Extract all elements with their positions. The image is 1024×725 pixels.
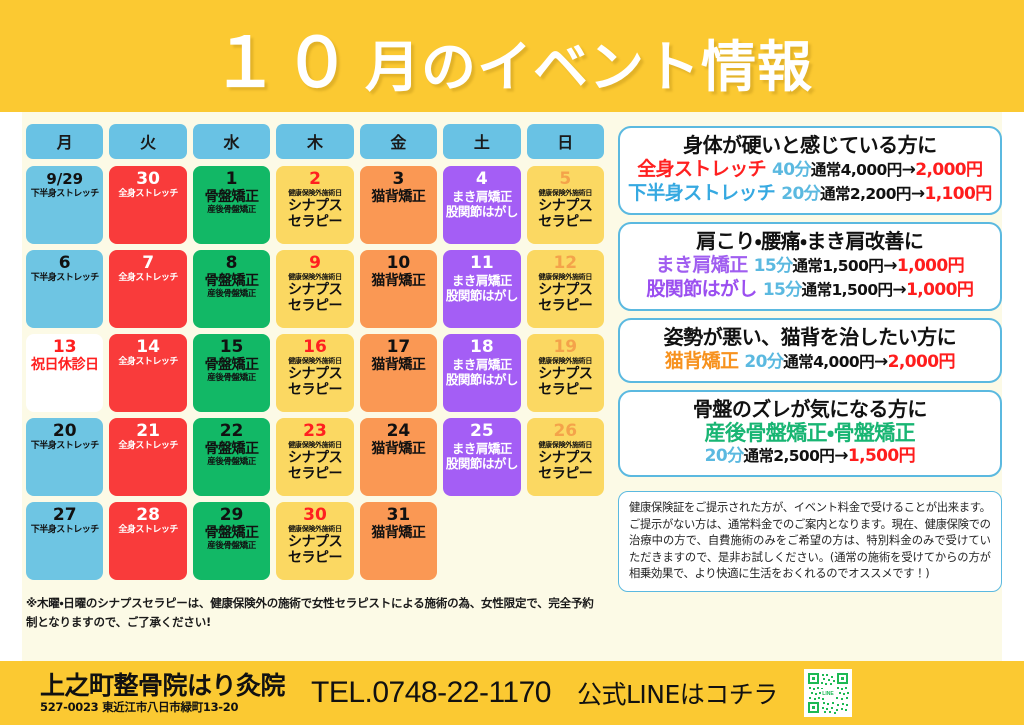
page-title: １０月のイベント情報 [211, 7, 813, 106]
treatment-label: 下半身ストレッチ [31, 273, 99, 284]
calendar-weekday-6: 日 [527, 124, 604, 159]
promo-arrow-icon: → [834, 446, 848, 466]
qr-icon: LINE [806, 671, 850, 715]
calendar-day-number: 27 [53, 505, 77, 525]
calendar-day-cell[interactable]: 9健康保険外施術日シナプスセラピー [276, 250, 353, 328]
calendar-day-cell[interactable]: 11まき肩矯正股関節はがし [443, 250, 520, 328]
promo-arrow-icon: → [874, 352, 888, 372]
calendar-day-cell[interactable]: 24猫背矯正 [360, 418, 437, 496]
promo-heading: 肩こり・腰痛・まき肩改善に [628, 229, 992, 254]
treatment-label-2: セラピー [288, 382, 342, 398]
line-qr-code[interactable]: LINE [804, 669, 852, 717]
promo-sale-price: 2,000円 [915, 160, 982, 180]
calendar-day-number: 16 [303, 337, 327, 357]
promo-price-line: まき肩矯正 15分通常1,500円→1,000円 [628, 254, 992, 278]
promo-sale-price: 1,000円 [906, 280, 973, 300]
calendar-day-number: 21 [136, 421, 160, 441]
calendar-footnote: ※木曜・日曜のシナプスセラピーは、健康保険外の施術で女性セラピストによる施術の為… [26, 594, 604, 632]
insurance-note: 健康保険外施術日 [288, 189, 342, 198]
insurance-note: 健康保険外施術日 [288, 273, 342, 282]
calendar-day-number: 9 [309, 253, 321, 273]
calendar-day-cell[interactable]: 16健康保険外施術日シナプスセラピー [276, 334, 353, 412]
treatment-label: まき肩矯正 [452, 189, 512, 204]
promo-heading: 身体が硬いと感じている方に [628, 133, 992, 158]
poster-body: 月火水木金土日 9/29下半身ストレッチ30全身ストレッチ1骨盤矯正産後骨盤矯正… [0, 112, 1024, 661]
calendar-day-cell[interactable]: 29骨盤矯正産後骨盤矯正 [193, 502, 270, 580]
insurance-note: 健康保険外施術日 [538, 189, 592, 198]
calendar-day-cell[interactable]: 30健康保険外施術日シナプスセラピー [276, 502, 353, 580]
treatment-label-2: セラピー [538, 298, 592, 314]
promo-duration: 15分 [754, 256, 793, 276]
promo-treatment-name: 全身ストレッチ [637, 158, 772, 180]
calendar-day-cell[interactable]: 8骨盤矯正産後骨盤矯正 [193, 250, 270, 328]
treatment-label: 下半身ストレッチ [31, 441, 99, 452]
calendar-day-cell[interactable]: 28全身ストレッチ [109, 502, 186, 580]
promo-regular-price: 通常2,500円 [743, 447, 834, 465]
treatment-label-2: 股関節はがし [446, 372, 518, 387]
header-month: １０ [211, 24, 355, 103]
calendar-day-number: 9/29 [46, 169, 83, 189]
calendar-weekday-2: 水 [193, 124, 270, 159]
promo-sale-price: 1,500円 [848, 446, 915, 466]
promo-arrow-icon: → [911, 184, 925, 204]
disclaimer-note: 健康保険証をご提示された方が、イベント料金で受けることが出来ます。ご提示がない方… [618, 491, 1002, 592]
promo-treatment-name: 猫背矯正 [665, 350, 745, 372]
treatment-label: シナプス [288, 366, 342, 382]
insurance-note: 健康保険外施術日 [288, 441, 342, 450]
treatment-label: 猫背矯正 [371, 357, 425, 373]
svg-text:LINE: LINE [822, 691, 834, 697]
promo-price-line: 20分通常2,500円→1,500円 [628, 445, 992, 468]
calendar-cell-empty [443, 502, 520, 580]
calendar-day-number: 1 [226, 169, 238, 189]
poster-header: １０月のイベント情報 [0, 0, 1024, 112]
treatment-label-2: 股関節はがし [446, 456, 518, 471]
treatment-label-2: セラピー [288, 550, 342, 566]
treatment-label: 猫背矯正 [371, 189, 425, 205]
calendar-weekday-0: 月 [26, 124, 103, 159]
insurance-note: 健康保険外施術日 [288, 357, 342, 366]
promo-treatment-name: 下半身ストレッチ [628, 182, 781, 204]
promo-regular-price: 通常4,000円 [811, 161, 902, 179]
calendar-day-cell[interactable]: 14全身ストレッチ [109, 334, 186, 412]
phone-number[interactable]: TEL.0748-22-1170 [311, 676, 551, 710]
calendar-day-number: 28 [136, 505, 160, 525]
promo-duration: 20分 [744, 352, 783, 372]
treatment-label: シナプス [288, 534, 342, 550]
treatment-label: シナプス [288, 450, 342, 466]
poster-footer: 上之町整骨院はり灸院 527-0023 東近江市八日市緑町13-20 TEL.0… [0, 661, 1024, 725]
promo-duration: 20分 [705, 446, 744, 466]
calendar-day-cell[interactable]: 12健康保険外施術日シナプスセラピー [527, 250, 604, 328]
treatment-sublabel: 産後骨盤矯正 [207, 457, 256, 468]
calendar-day-number: 11 [470, 253, 494, 273]
calendar-day-number: 12 [553, 253, 577, 273]
promo-regular-price: 通常4,000円 [783, 353, 874, 371]
promo-duration: 20分 [781, 184, 820, 204]
calendar-day-number: 19 [553, 337, 577, 357]
treatment-label: 全身ストレッチ [118, 525, 178, 536]
treatment-label: 骨盤矯正 [205, 525, 259, 541]
promo-subheading: 産後骨盤矯正・骨盤矯正 [628, 422, 992, 445]
calendar-day-number: 4 [476, 169, 488, 189]
calendar-day-number: 10 [387, 253, 411, 273]
calendar-day-cell[interactable]: 7全身ストレッチ [109, 250, 186, 328]
poster-root: １０月のイベント情報 月火水木金土日 9/29下半身ストレッチ30全身ストレッチ… [0, 0, 1024, 725]
promo-list: 身体が硬いと感じている方に全身ストレッチ 40分通常4,000円→2,000円下… [618, 126, 1002, 484]
calendar-day-cell[interactable]: 2健康保険外施術日シナプスセラピー [276, 166, 353, 244]
treatment-label-2: セラピー [538, 466, 592, 482]
treatment-label: 下半身ストレッチ [31, 189, 99, 200]
calendar-day-cell[interactable]: 1骨盤矯正産後骨盤矯正 [193, 166, 270, 244]
treatment-label: シナプス [538, 282, 592, 298]
treatment-label: シナプス [288, 282, 342, 298]
promo-arrow-icon: → [883, 256, 897, 276]
clinic-address: 527-0023 東近江市八日市緑町13-20 [40, 700, 285, 715]
calendar-day-cell[interactable]: 30全身ストレッチ [109, 166, 186, 244]
holiday-label: 祝日休診日 [31, 357, 99, 373]
clinic-info: 上之町整骨院はり灸院 527-0023 東近江市八日市緑町13-20 [40, 671, 285, 715]
calendar-day-cell[interactable]: 31猫背矯正 [360, 502, 437, 580]
calendar-day-cell[interactable]: 26健康保険外施術日シナプスセラピー [527, 418, 604, 496]
promo-sale-price: 1,100円 [924, 184, 991, 204]
treatment-label: シナプス [538, 450, 592, 466]
treatment-label-2: 股関節はがし [446, 204, 518, 219]
calendar-day-cell[interactable]: 23健康保険外施術日シナプスセラピー [276, 418, 353, 496]
left-margin [0, 112, 22, 661]
promo-regular-price: 通常1,500円 [792, 257, 883, 275]
treatment-label: まき肩矯正 [452, 357, 512, 372]
calendar-day-number: 7 [142, 253, 154, 273]
treatment-label: まき肩矯正 [452, 273, 512, 288]
calendar-day-number: 29 [220, 505, 244, 525]
calendar-day-number: 17 [387, 337, 411, 357]
calendar-day-number: 5 [559, 169, 571, 189]
treatment-label: 骨盤矯正 [205, 357, 259, 373]
header-title-rest: 月のイベント情報 [365, 35, 813, 99]
promo-price-line: 股関節はがし 15分通常1,500円→1,000円 [628, 278, 992, 302]
calendar-day-number: 25 [470, 421, 494, 441]
clinic-name: 上之町整骨院はり灸院 [40, 671, 285, 700]
calendar-day-cell[interactable]: 19健康保険外施術日シナプスセラピー [527, 334, 604, 412]
treatment-label: 全身ストレッチ [118, 441, 178, 452]
promo-regular-price: 通常1,500円 [802, 281, 893, 299]
calendar-day-cell[interactable]: 3猫背矯正 [360, 166, 437, 244]
calendar-day-cell[interactable]: 25まき肩矯正股関節はがし [443, 418, 520, 496]
calendar-weekday-5: 土 [443, 124, 520, 159]
promo-treatment-name: まき肩矯正 [656, 254, 754, 276]
promo-duration: 40分 [772, 160, 811, 180]
calendar-day-number: 30 [303, 505, 327, 525]
promo-column: 身体が硬いと感じている方に全身ストレッチ 40分通常4,000円→2,000円下… [618, 124, 1002, 661]
promo-arrow-icon: → [892, 280, 906, 300]
promo-treatment-name: 股関節はがし [646, 278, 762, 300]
treatment-label: シナプス [538, 198, 592, 214]
promo-box: 肩こり・腰痛・まき肩改善にまき肩矯正 15分通常1,500円→1,000円股関節… [618, 222, 1002, 311]
treatment-sublabel: 産後骨盤矯正 [207, 205, 256, 216]
calendar-day-number: 15 [220, 337, 244, 357]
calendar-day-number: 2 [309, 169, 321, 189]
calendar-day-number: 22 [220, 421, 244, 441]
treatment-label: 骨盤矯正 [205, 189, 259, 205]
calendar-day-cell[interactable]: 20下半身ストレッチ [26, 418, 103, 496]
treatment-label-2: セラピー [538, 214, 592, 230]
treatment-label: 下半身ストレッチ [31, 525, 99, 536]
calendar-day-number: 23 [303, 421, 327, 441]
treatment-label: 全身ストレッチ [118, 273, 178, 284]
promo-heading: 姿勢が悪い、猫背を治したい方に [628, 325, 992, 350]
treatment-label: 猫背矯正 [371, 441, 425, 457]
promo-sale-price: 1,000円 [897, 256, 964, 276]
calendar-weekday-3: 木 [276, 124, 353, 159]
calendar-cell-empty [527, 502, 604, 580]
calendar-day-number: 14 [136, 337, 160, 357]
promo-box: 身体が硬いと感じている方に全身ストレッチ 40分通常4,000円→2,000円下… [618, 126, 1002, 215]
treatment-sublabel: 産後骨盤矯正 [207, 373, 256, 384]
treatment-label: 骨盤矯正 [205, 441, 259, 457]
insurance-note: 健康保険外施術日 [288, 525, 342, 534]
promo-sale-price: 2,000円 [888, 352, 955, 372]
treatment-sublabel: 産後骨盤矯正 [207, 541, 256, 552]
calendar-weekday-4: 金 [360, 124, 437, 159]
calendar-day-number: 8 [226, 253, 238, 273]
insurance-note: 健康保険外施術日 [538, 441, 592, 450]
treatment-label-2: セラピー [288, 298, 342, 314]
treatment-sublabel: 産後骨盤矯正 [207, 289, 256, 300]
promo-price-line: 全身ストレッチ 40分通常4,000円→2,000円 [628, 158, 992, 182]
calendar-day-cell[interactable]: 4まき肩矯正股関節はがし [443, 166, 520, 244]
calendar-day-cell[interactable]: 10猫背矯正 [360, 250, 437, 328]
right-margin [1002, 112, 1024, 661]
promo-box: 姿勢が悪い、猫背を治したい方に猫背矯正 20分通常4,000円→2,000円 [618, 318, 1002, 383]
calendar-grid: 9/29下半身ストレッチ30全身ストレッチ1骨盤矯正産後骨盤矯正2健康保険外施術… [26, 166, 604, 580]
treatment-label: シナプス [538, 366, 592, 382]
calendar-day-number: 13 [53, 337, 77, 357]
treatment-label: 全身ストレッチ [118, 357, 178, 368]
promo-heading: 骨盤のズレが気になる方に [628, 397, 992, 422]
treatment-label: 全身ストレッチ [118, 189, 178, 200]
treatment-label-2: 股関節はがし [446, 288, 518, 303]
calendar-day-cell[interactable]: 18まき肩矯正股関節はがし [443, 334, 520, 412]
calendar-day-cell[interactable]: 15骨盤矯正産後骨盤矯正 [193, 334, 270, 412]
promo-price-line: 猫背矯正 20分通常4,000円→2,000円 [628, 350, 992, 374]
treatment-label-2: セラピー [288, 214, 342, 230]
line-label: 公式LINEはコチラ [577, 675, 778, 711]
calendar-day-cell[interactable]: 13祝日休診日 [26, 334, 103, 412]
calendar-weekday-row: 月火水木金土日 [26, 124, 604, 159]
insurance-note: 健康保険外施術日 [538, 357, 592, 366]
calendar-day-cell[interactable]: 17猫背矯正 [360, 334, 437, 412]
treatment-label: シナプス [288, 198, 342, 214]
calendar-day-number: 30 [136, 169, 160, 189]
calendar: 月火水木金土日 9/29下半身ストレッチ30全身ストレッチ1骨盤矯正産後骨盤矯正… [26, 124, 604, 661]
treatment-label: まき肩矯正 [452, 441, 512, 456]
calendar-day-cell[interactable]: 27下半身ストレッチ [26, 502, 103, 580]
promo-duration: 15分 [763, 280, 802, 300]
promo-regular-price: 通常2,200円 [820, 185, 911, 203]
calendar-weekday-1: 火 [109, 124, 186, 159]
calendar-day-number: 24 [387, 421, 411, 441]
treatment-label-2: セラピー [538, 382, 592, 398]
promo-box: 骨盤のズレが気になる方に産後骨盤矯正・骨盤矯正20分通常2,500円→1,500… [618, 390, 1002, 477]
calendar-day-cell[interactable]: 22骨盤矯正産後骨盤矯正 [193, 418, 270, 496]
calendar-day-number: 26 [553, 421, 577, 441]
treatment-label: 骨盤矯正 [205, 273, 259, 289]
calendar-day-number: 18 [470, 337, 494, 357]
calendar-day-number: 20 [53, 421, 77, 441]
calendar-day-cell[interactable]: 6下半身ストレッチ [26, 250, 103, 328]
treatment-label-2: セラピー [288, 466, 342, 482]
promo-arrow-icon: → [902, 160, 916, 180]
calendar-day-cell[interactable]: 21全身ストレッチ [109, 418, 186, 496]
calendar-day-cell[interactable]: 5健康保険外施術日シナプスセラピー [527, 166, 604, 244]
promo-price-line: 下半身ストレッチ 20分通常2,200円→1,100円 [628, 182, 992, 206]
calendar-day-cell[interactable]: 9/29下半身ストレッチ [26, 166, 103, 244]
calendar-day-number: 31 [387, 505, 411, 525]
insurance-note: 健康保険外施術日 [538, 273, 592, 282]
treatment-label: 猫背矯正 [371, 525, 425, 541]
calendar-day-number: 3 [393, 169, 405, 189]
treatment-label: 猫背矯正 [371, 273, 425, 289]
calendar-day-number: 6 [59, 253, 71, 273]
